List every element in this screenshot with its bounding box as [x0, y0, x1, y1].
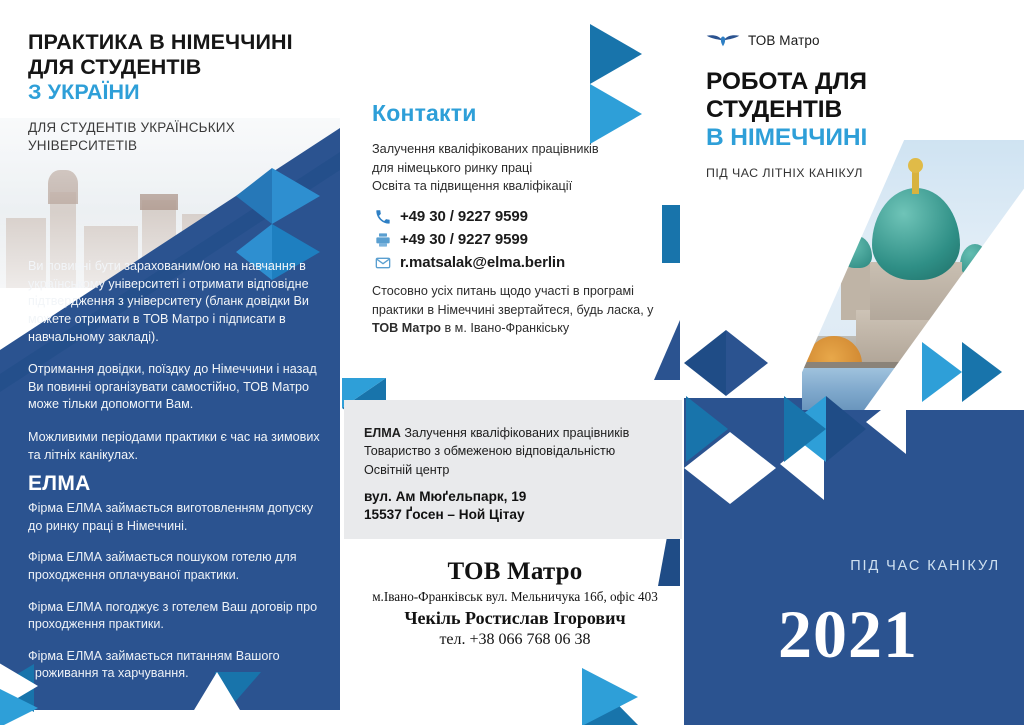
- panel-divider: [682, 0, 684, 725]
- decor-triangle: [730, 432, 776, 504]
- contact-row-email[interactable]: r.matsalak@elma.berlin: [374, 254, 565, 271]
- decor-triangle: [0, 686, 38, 725]
- contacts-heading: Контакти: [372, 100, 477, 127]
- decor-bar: [662, 205, 680, 263]
- elma-address-content: ЕЛМА Залучення кваліфікованих працівникі…: [364, 424, 674, 525]
- contact-row-fax[interactable]: +49 30 / 9227 9599: [374, 231, 565, 248]
- left-panel: ПРАКТИКА В НІМЕЧЧИНІ ДЛЯ СТУДЕНТІВ З УКР…: [0, 0, 340, 725]
- left-paragraph: Можливими періодами практики є час на зи…: [28, 429, 320, 464]
- elma-paragraph: Фірма ЕЛМА погоджує з готелем Ваш догові…: [28, 599, 320, 634]
- decor-triangle: [590, 24, 642, 84]
- left-headline-accent: З УКРАЇНИ: [28, 80, 140, 104]
- contacts-note: Стосовно усіх питань щодо участі в прогр…: [372, 282, 664, 338]
- elma-heading: ЕЛМА: [28, 472, 91, 496]
- elma-paragraph: Фірма ЕЛМА займається пошуком готелю для…: [28, 549, 320, 584]
- note-after: в м. Івано-Франкіську: [441, 321, 569, 335]
- matro-company: ТОВ Матро: [350, 558, 680, 586]
- logo-text: ТОВ Матро: [748, 33, 820, 48]
- elma-org-bold: ЕЛМА: [364, 426, 401, 440]
- left-headline-group: ПРАКТИКА В НІМЕЧЧИНІ ДЛЯ СТУДЕНТІВ З УКР…: [28, 30, 328, 154]
- year-label: 2021: [778, 600, 918, 668]
- elma-paragraph: Фірма ЕЛМА займається виготовленням допу…: [28, 500, 320, 535]
- phone-value: +49 30 / 9227 9599: [400, 208, 528, 225]
- fax-value: +49 30 / 9227 9599: [400, 231, 528, 248]
- contacts-intro-line: для німецького ринку праці: [372, 159, 650, 178]
- decor-triangle: [784, 396, 826, 462]
- left-subtitle: ДЛЯ СТУДЕНТІВ УКРАЇНСЬКИХ УНІВЕРСИТЕТІВ: [28, 119, 328, 154]
- left-paragraph: Отримання довідки, поїздку до Німеччини …: [28, 361, 320, 414]
- decor-triangle: [582, 668, 638, 725]
- elma-address-line1: вул. Ам Мюґельпарк, 19: [364, 488, 674, 506]
- decor-triangle: [922, 342, 962, 402]
- brochure-page: ПРАКТИКА В НІМЕЧЧИНІ ДЛЯ СТУДЕНТІВ З УКР…: [0, 0, 1024, 725]
- decor-triangle: [684, 330, 726, 396]
- note-bold: ТОВ Матро: [372, 321, 441, 335]
- matro-person: Чекіль Ростислав Ігорович: [350, 608, 680, 629]
- right-headline-line1: РОБОТА ДЛЯ: [706, 68, 867, 95]
- decor-triangle: [962, 342, 1002, 402]
- right-headline-accent: В НІМЕЧЧИНІ: [706, 124, 867, 151]
- panel-divider: [340, 0, 342, 725]
- elma-org-line: ЕЛМА Залучення кваліфікованих працівникі…: [364, 424, 674, 442]
- right-headline: РОБОТА ДЛЯ СТУДЕНТІВ В НІМЕЧЧИНІ: [706, 68, 956, 152]
- right-caption: ПІД ЧАС КАНІКУЛ: [850, 558, 1000, 574]
- eagle-logo-icon: [706, 30, 740, 50]
- photo-spire-ball: [908, 158, 923, 173]
- elma-address-line2: 15537 Ґосен – Ной Цітау: [364, 506, 674, 524]
- decor-triangle: [726, 330, 768, 396]
- decor-triangle: [826, 396, 866, 462]
- decor-triangle: [185, 672, 249, 725]
- contact-list: +49 30 / 9227 9599 +49 30 / 9227 9599 r.…: [374, 208, 565, 277]
- left-headline-line1: ПРАКТИКА В НІМЕЧЧИНІ: [28, 30, 293, 54]
- fax-icon: [374, 231, 391, 248]
- matro-logo: ТОВ Матро: [706, 30, 820, 50]
- matro-footer: ТОВ Матро м.Івано-Франківськ вул. Мельни…: [350, 558, 680, 649]
- left-headline-line2: ДЛЯ СТУДЕНТІВ: [28, 55, 201, 79]
- right-subtitle: ПІД ЧАС ЛІТНІХ КАНІКУЛ: [706, 166, 863, 180]
- contacts-intro-line: Освіта та підвищення кваліфікації: [372, 177, 650, 196]
- elma-paragraph: Фірма ЕЛМА займається питанням Вашого пр…: [28, 648, 320, 683]
- note-before: Стосовно усіх питань щодо участі в прогр…: [372, 284, 653, 317]
- email-icon: [374, 254, 391, 271]
- decor-triangle: [272, 168, 320, 224]
- decor-triangle: [866, 390, 906, 454]
- elma-org-rest: Залучення кваліфікованих працівників: [401, 426, 629, 440]
- right-panel: ТОВ Матро РОБОТА ДЛЯ СТУДЕНТІВ В НІМЕЧЧИ…: [684, 0, 1024, 725]
- decor-triangle: [236, 168, 272, 224]
- matro-phone: тел. +38 066 768 06 38: [350, 631, 680, 649]
- elma-body: Фірма ЕЛМА займається виготовленням допу…: [28, 500, 320, 697]
- elma-org-line3: Освітній центр: [364, 461, 674, 479]
- contact-row-phone[interactable]: +49 30 / 9227 9599: [374, 208, 565, 225]
- right-headline-line2: СТУДЕНТІВ: [706, 96, 842, 123]
- left-headline: ПРАКТИКА В НІМЕЧЧИНІ ДЛЯ СТУДЕНТІВ З УКР…: [28, 30, 328, 105]
- matro-address: м.Івано-Франківськ вул. Мельничука 16б, …: [350, 589, 680, 605]
- left-paragraph: Ви повинні бути зарахованим/ою на навчан…: [28, 258, 320, 346]
- email-value: r.matsalak@elma.berlin: [400, 254, 565, 271]
- decor-triangle: [590, 84, 642, 144]
- decor-triangle: [686, 396, 728, 462]
- phone-icon: [374, 208, 391, 225]
- elma-org-line2: Товариство з обмеженою відповідальністю: [364, 442, 674, 460]
- contacts-intro: Залучення кваліфікованих працівників для…: [372, 140, 650, 196]
- contacts-intro-line: Залучення кваліфікованих працівників: [372, 140, 650, 159]
- left-body: Ви повинні бути зарахованим/ою на навчан…: [28, 258, 320, 479]
